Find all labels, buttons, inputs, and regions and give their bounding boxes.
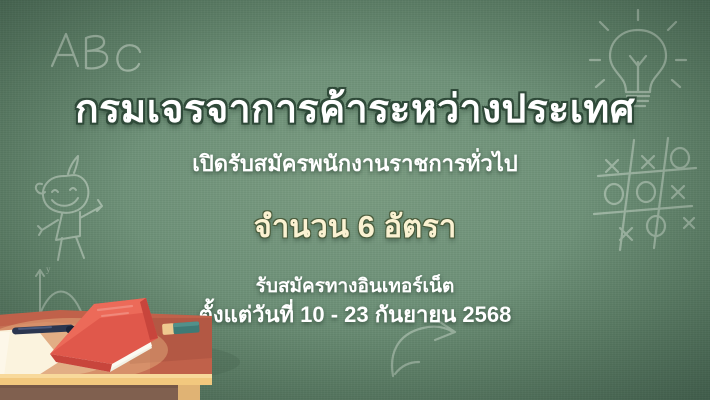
subtitle-text: เปิดรับสมัครพนักงานราชการทั่วไป <box>0 146 710 181</box>
desk-scene <box>0 288 252 400</box>
abc-text-icon <box>40 22 150 82</box>
page-title: กรมเจรจาการค้าระหว่างประเทศ <box>0 88 710 132</box>
position-count-text: จำนวน 6 อัตรา <box>0 201 710 251</box>
poster-canvas: y x กรมเจรจาการค้าระหว่างประเทศ เปิดรับส… <box>0 0 710 400</box>
